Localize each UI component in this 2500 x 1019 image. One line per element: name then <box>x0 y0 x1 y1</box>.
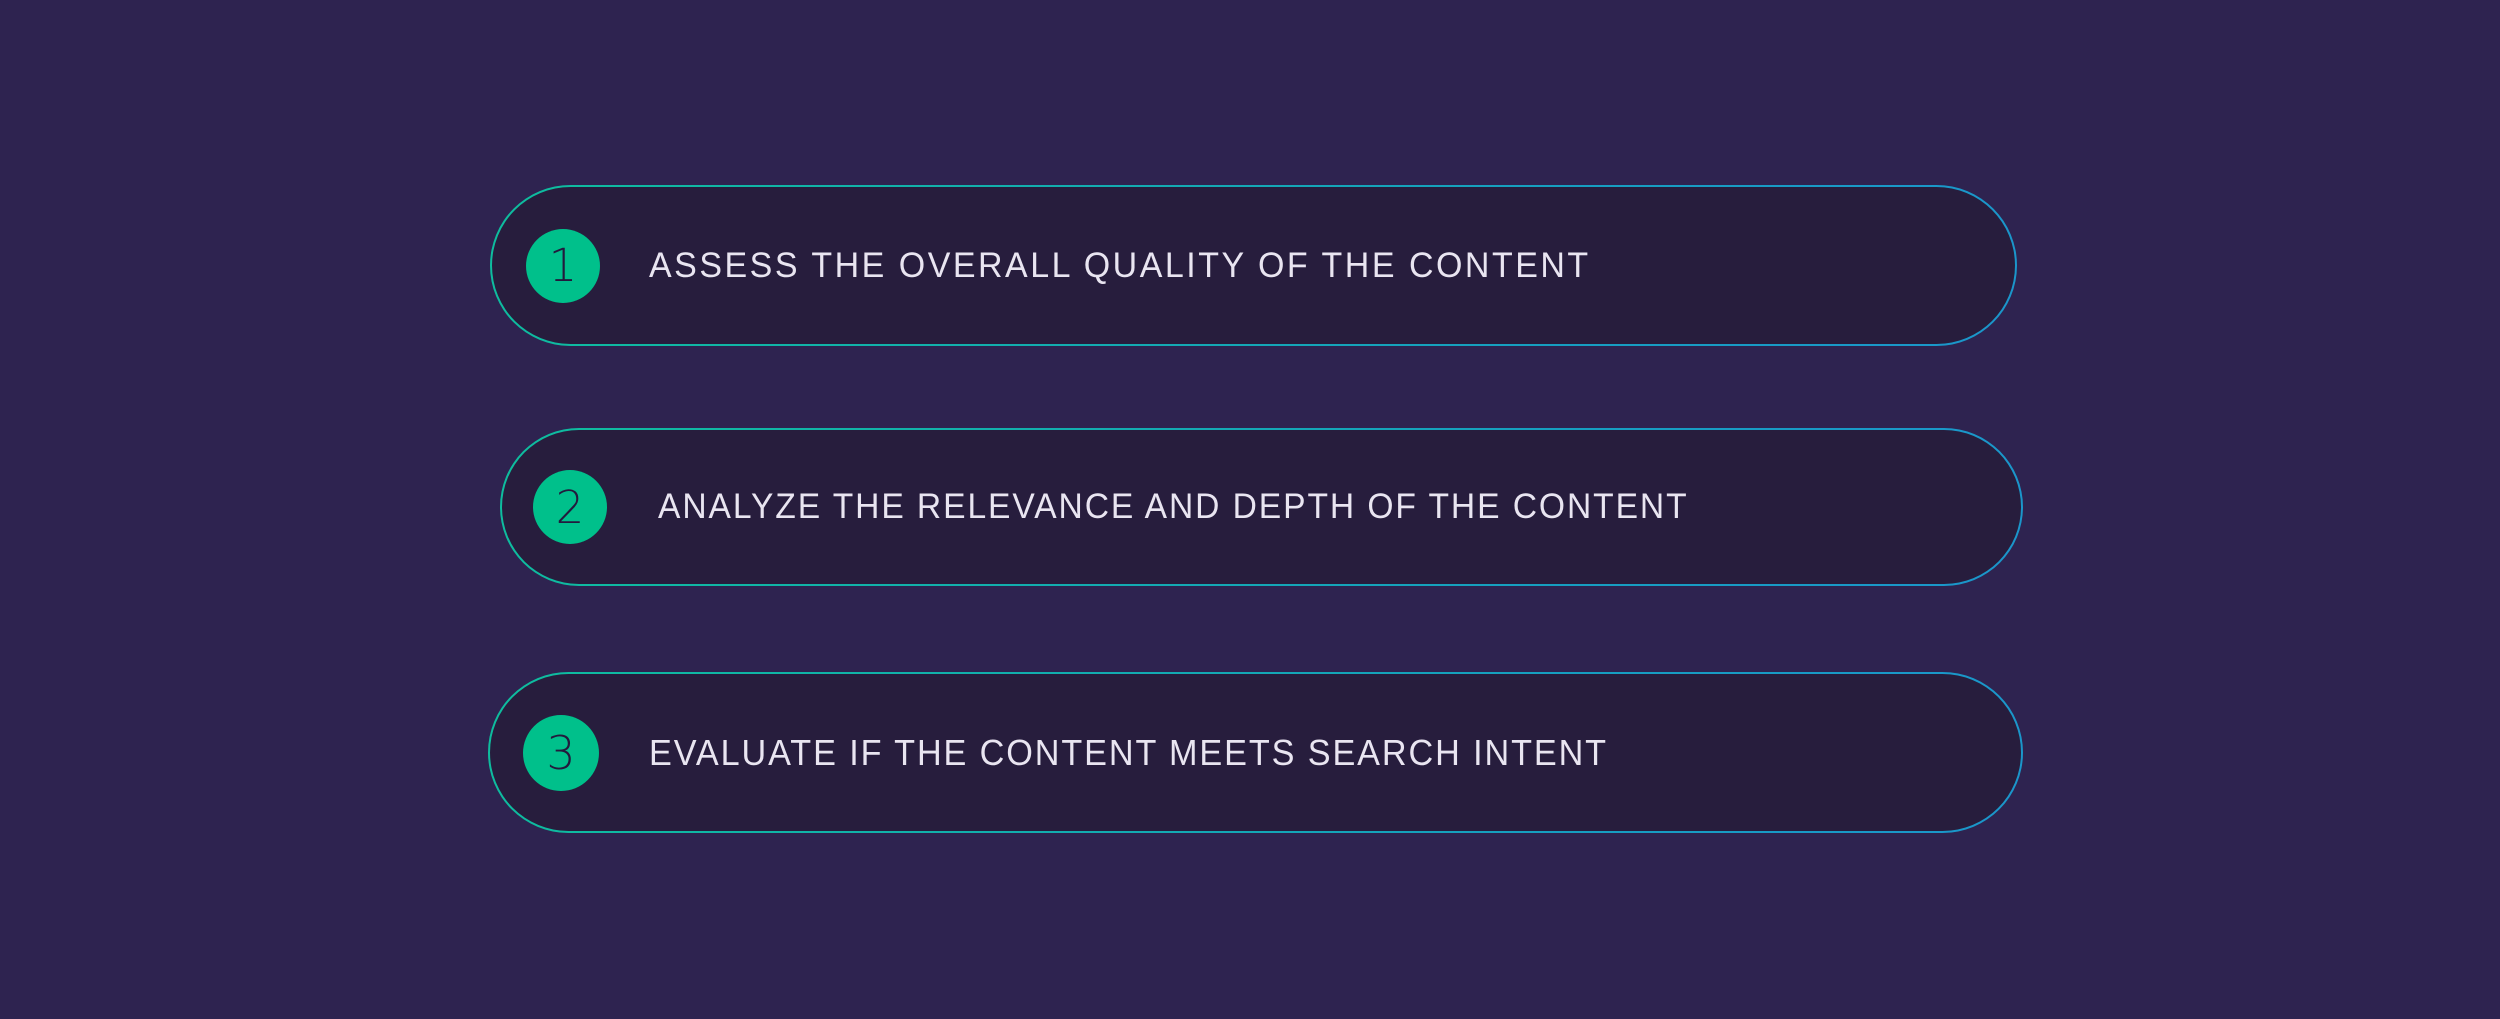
step-number-badge-3: 3 <box>523 715 599 791</box>
page-canvas: 1 ASSESS THE OVERALL QUALITY OF THE CONT… <box>0 0 2500 1019</box>
step-pill-3[interactable]: 3 EVALUATE IF THE CONTENT MEETS SEARCH I… <box>488 672 2023 833</box>
step-number-badge-1: 1 <box>526 229 600 303</box>
step-label-1: ASSESS THE OVERALL QUALITY OF THE CONTEN… <box>649 246 1591 286</box>
step-label-3: EVALUATE IF THE CONTENT MEETS SEARCH INT… <box>649 732 1608 774</box>
step-pill-1-content: 1 ASSESS THE OVERALL QUALITY OF THE CONT… <box>492 187 2015 344</box>
step-pill-2[interactable]: 2 ANALYZE THE RELEVANCE AND DEPTH OF THE… <box>500 428 2023 586</box>
step-pill-2-content: 2 ANALYZE THE RELEVANCE AND DEPTH OF THE… <box>502 430 2021 584</box>
step-number-badge-2: 2 <box>533 470 607 544</box>
steps-list: 1 ASSESS THE OVERALL QUALITY OF THE CONT… <box>0 0 2500 1019</box>
step-pill-1[interactable]: 1 ASSESS THE OVERALL QUALITY OF THE CONT… <box>490 185 2017 346</box>
step-pill-3-content: 3 EVALUATE IF THE CONTENT MEETS SEARCH I… <box>490 674 2021 831</box>
step-label-2: ANALYZE THE RELEVANCE AND DEPTH OF THE C… <box>658 487 1689 527</box>
